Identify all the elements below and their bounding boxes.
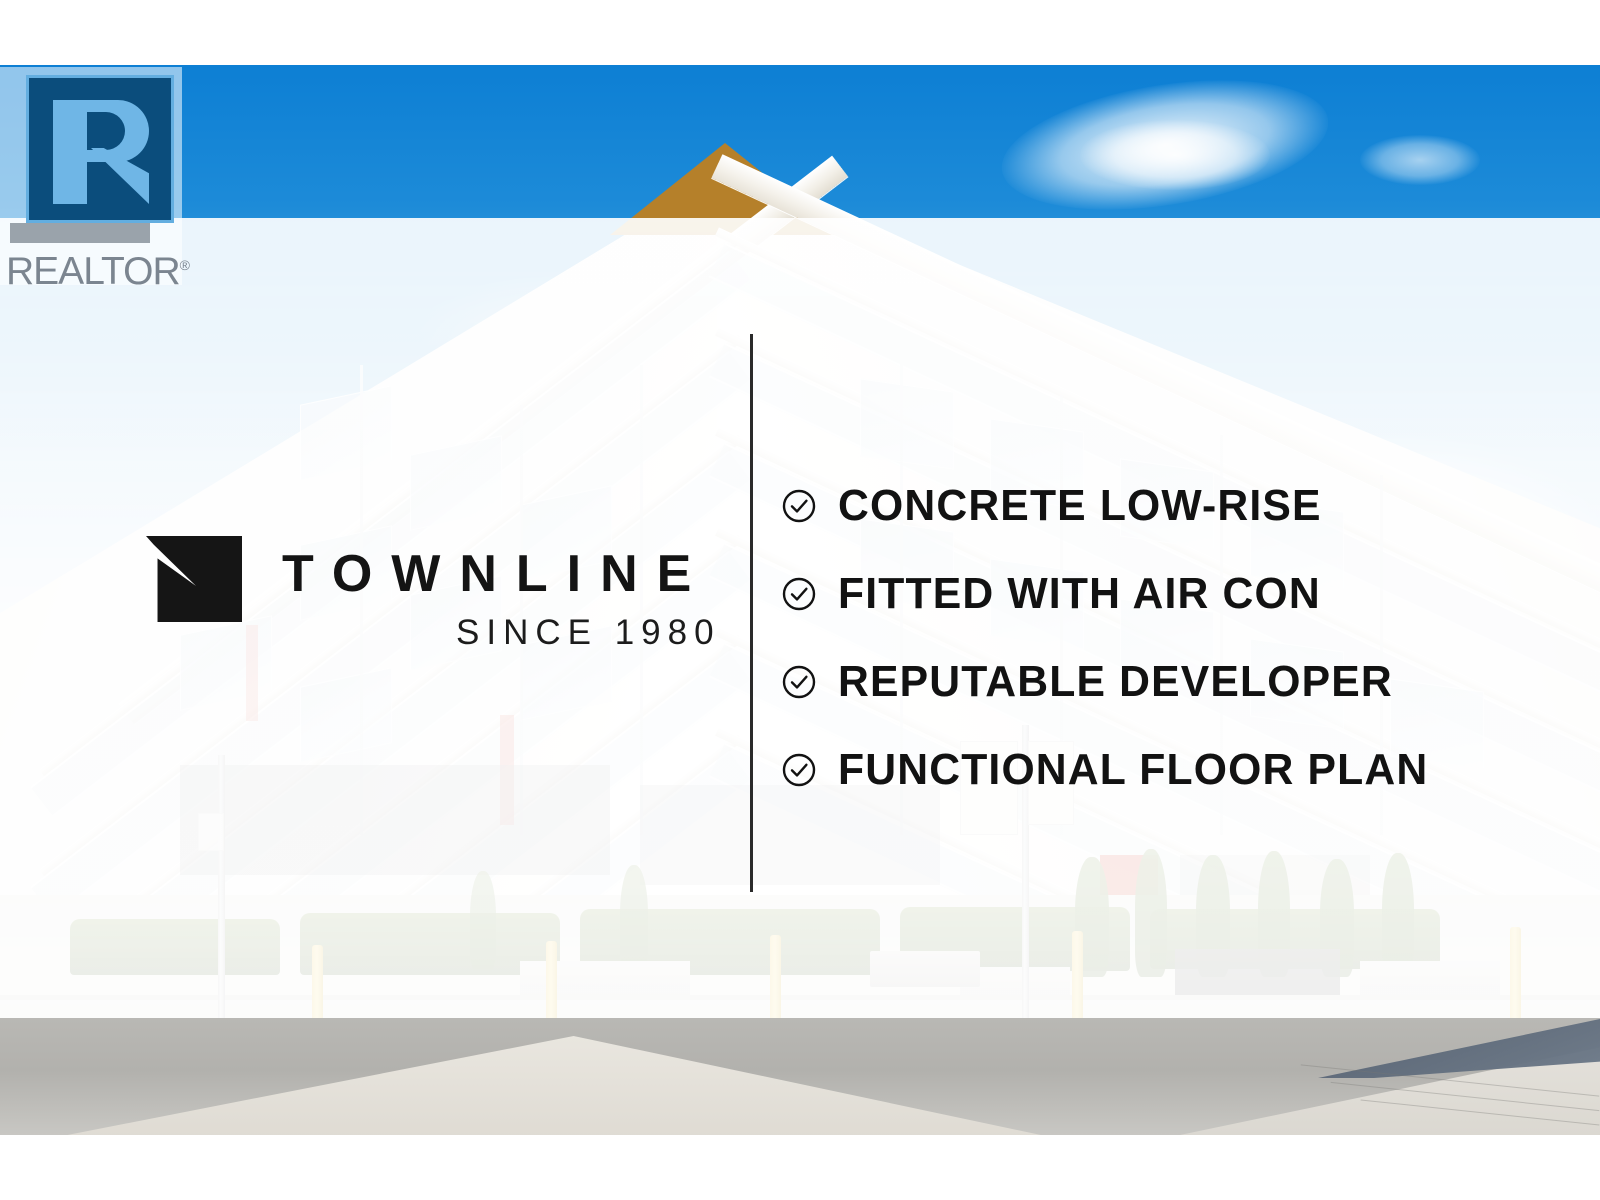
slide-canvas: REALTOR® TOWNLINE SINCE 1980 CONCRETE LO… (0, 0, 1600, 1200)
realtor-logo-bar (10, 223, 150, 243)
pavement-band (0, 1018, 1600, 1135)
townline-mark-icon (146, 536, 242, 622)
tree (620, 865, 648, 973)
pavement-light-wedge (0, 1036, 1140, 1135)
realtor-wordmark-text: REALTOR (6, 250, 180, 293)
circle-check-icon (782, 753, 816, 787)
realtor-r-stem (53, 100, 87, 204)
tree (1135, 849, 1167, 977)
feature-label: FITTED WITH AIR CON (838, 570, 1321, 618)
feature-label: CONCRETE LOW-RISE (838, 482, 1322, 530)
circle-check-icon (782, 577, 816, 611)
townline-tagline: SINCE 1980 (456, 614, 721, 652)
base-spandrel (180, 765, 610, 875)
realtor-wordmark: REALTOR® (6, 243, 182, 294)
vertical-divider (750, 334, 753, 892)
site-sign (198, 813, 224, 851)
feature-label: FUNCTIONAL FLOOR PLAN (838, 746, 1428, 794)
feature-item: CONCRETE LOW-RISE (782, 462, 1572, 550)
townline-wordmark: TOWNLINE (282, 546, 710, 602)
feature-item: FUNCTIONAL FLOOR PLAN (782, 726, 1572, 814)
realtor-r-bowl-counter (87, 112, 125, 150)
circle-check-icon (782, 489, 816, 523)
realtor-watermark: REALTOR® (0, 67, 182, 285)
feature-list: CONCRETE LOW-RISE FITTED WITH AIR CON RE… (782, 462, 1572, 814)
feature-label: REPUTABLE DEVELOPER (838, 658, 1393, 706)
feature-item: FITTED WITH AIR CON (782, 550, 1572, 638)
window-panel (860, 378, 954, 469)
bench (870, 951, 980, 987)
realtor-logo-square (26, 75, 174, 223)
hedge (70, 919, 280, 975)
registered-trademark-icon: ® (180, 257, 189, 273)
street-pole (218, 755, 225, 1025)
townline-logo: TOWNLINE SINCE 1980 (146, 536, 706, 656)
tree (470, 871, 496, 971)
tree (1382, 853, 1414, 977)
circle-check-icon (782, 665, 816, 699)
feature-item: REPUTABLE DEVELOPER (782, 638, 1572, 726)
